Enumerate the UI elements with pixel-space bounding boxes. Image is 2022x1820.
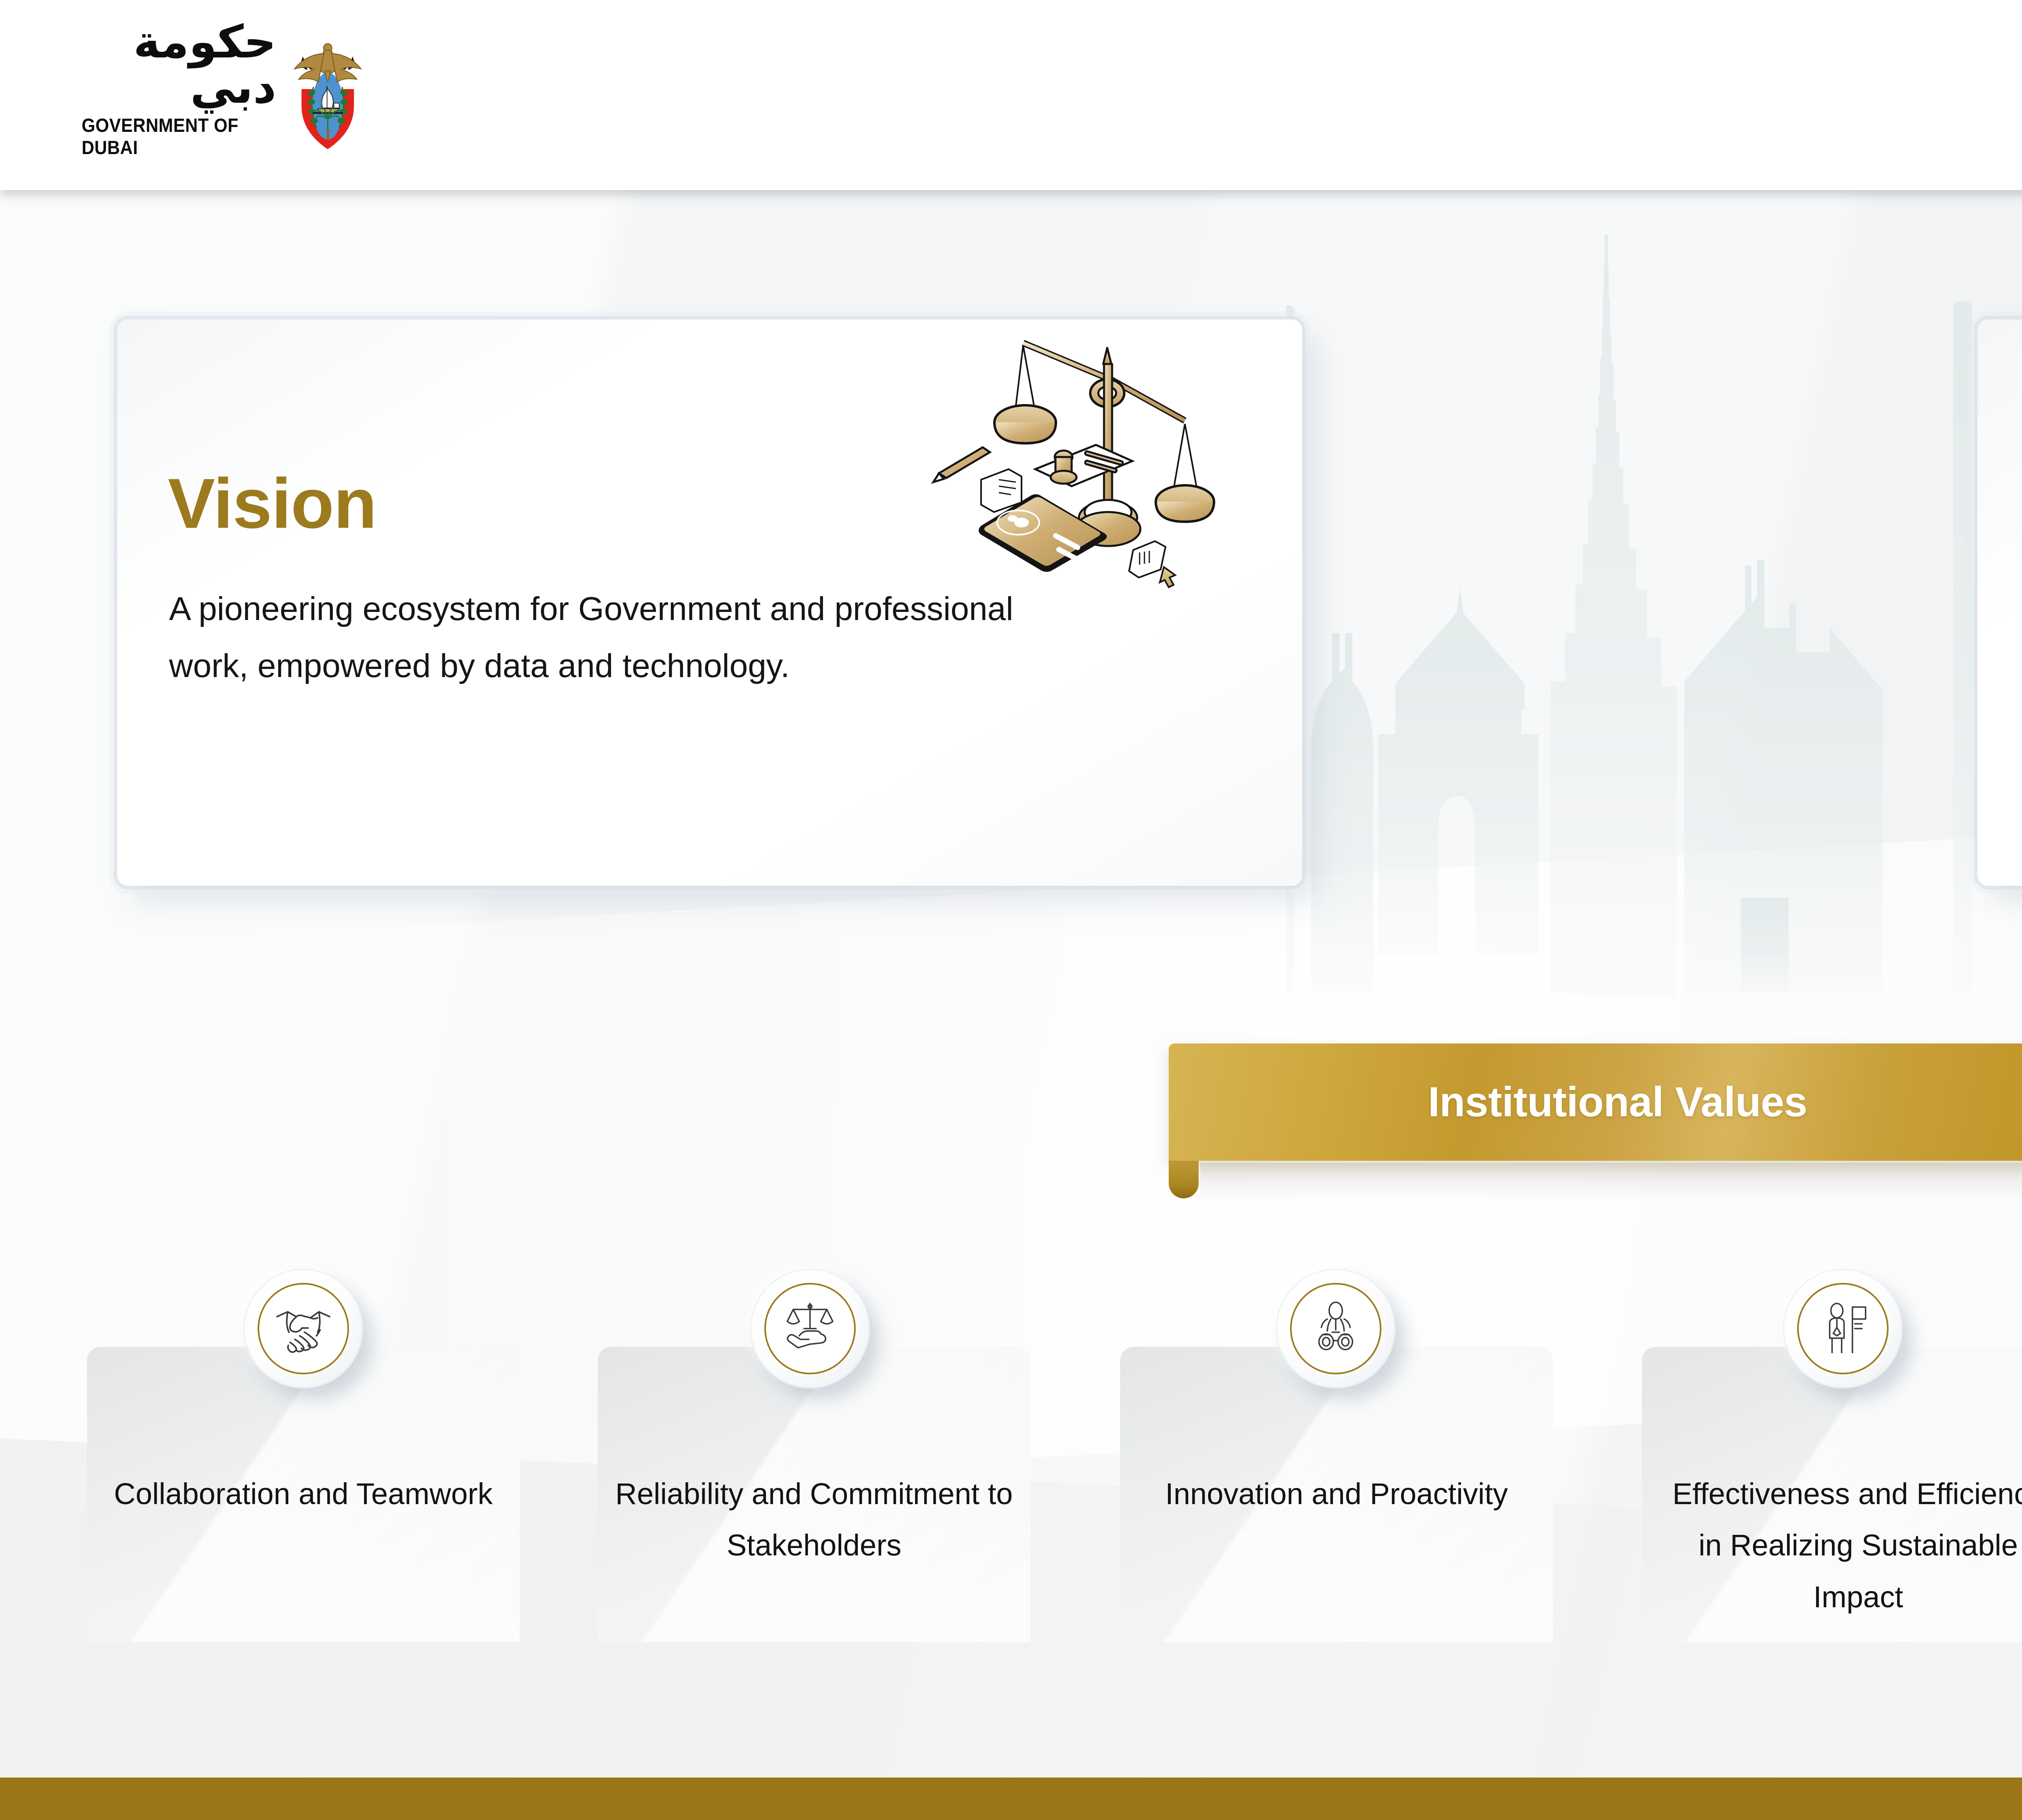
- value-badge-collaboration: [245, 1270, 362, 1387]
- page-stage: حكومة دبي GOVERNMENT OF DUBAI: [0, 0, 2022, 1820]
- vision-card: Vision A pioneering ecosystem for Govern…: [117, 320, 1302, 886]
- handshake-icon: [273, 1299, 333, 1359]
- scales-of-justice-isometric-icon: [902, 336, 1233, 603]
- value-label: Innovation and Proactivity: [1120, 1468, 1553, 1519]
- value-card-innovation: Innovation and Proactivity: [1120, 1347, 1553, 1642]
- scales-on-hand-icon: [780, 1299, 840, 1359]
- person-flag-icon: [1813, 1299, 1873, 1359]
- gov-logo-english-text: GOVERNMENT OF DUBAI: [82, 114, 276, 159]
- value-card-reliability: Reliability and Commitment to Stakeholde…: [598, 1347, 1030, 1642]
- gov-logo-text-block: حكومة دبي GOVERNMENT OF DUBAI: [65, 24, 276, 166]
- badge-ring: [764, 1283, 856, 1374]
- value-label: Reliability and Commitment to Stakeholde…: [598, 1468, 1030, 1571]
- value-badge-reliability: [751, 1270, 869, 1387]
- ribbon-shadow: [1200, 1163, 2022, 1200]
- value-badge-effectiveness: [1784, 1270, 1901, 1387]
- badge-ring: [1797, 1283, 1889, 1374]
- vision-title: Vision: [168, 463, 376, 544]
- dubai-emblem-icon: [288, 28, 368, 162]
- value-label: Collaboration and Teamwork: [87, 1468, 520, 1519]
- value-label: Effectiveness and Efficiency in Realizin…: [1642, 1468, 2022, 1623]
- gov-logo-arabic-text: حكومة دبي: [65, 19, 276, 110]
- government-of-dubai-logo: حكومة دبي GOVERNMENT OF DUBAI: [65, 24, 368, 166]
- ribbon-body: Institutional Values: [1169, 1043, 2022, 1161]
- mission-card: Mission To deliver innovative, proactive…: [1978, 320, 2022, 886]
- ribbon-tail-left: [1169, 1158, 1199, 1198]
- badge-ring: [1290, 1283, 1381, 1374]
- vision-body-text: A pioneering ecosystem for Government an…: [169, 580, 1099, 694]
- value-card-collaboration: Collaboration and Teamwork: [87, 1347, 520, 1642]
- footer-gold-bar: [0, 1773, 2022, 1820]
- institutional-values-label: Institutional Values: [1169, 1043, 2022, 1161]
- person-binoculars-icon: [1306, 1299, 1366, 1359]
- value-badge-innovation: [1277, 1270, 1394, 1387]
- institutional-values-ribbon: Institutional Values: [1153, 1043, 2022, 1197]
- footer-segment-1: [0, 1778, 2022, 1820]
- badge-ring: [258, 1283, 349, 1374]
- value-card-effectiveness: Effectiveness and Efficiency in Realizin…: [1642, 1347, 2022, 1642]
- page-header: حكومة دبي GOVERNMENT OF DUBAI: [0, 0, 2022, 190]
